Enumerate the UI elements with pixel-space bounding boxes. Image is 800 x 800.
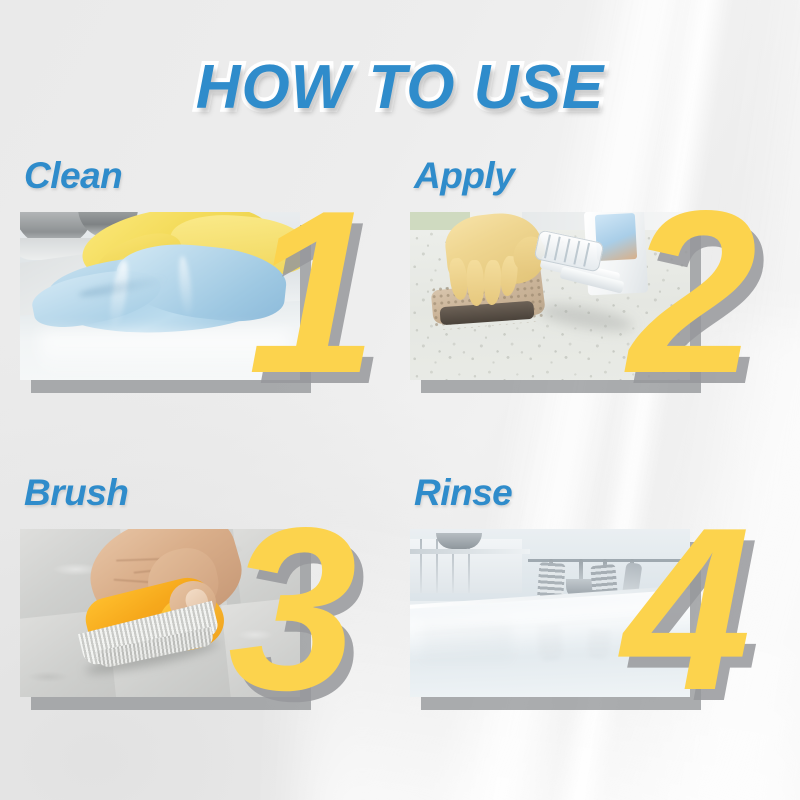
- step-number-4: 4: [622, 494, 751, 726]
- step-card-3: Brush: [0, 472, 390, 792]
- step-number-2: 2: [628, 177, 757, 409]
- page-title: HOW TO USE: [0, 52, 800, 123]
- step-number-1: 1: [248, 177, 377, 409]
- step-label-2: Apply: [414, 155, 514, 197]
- step-label-4: Rinse: [414, 472, 512, 514]
- step-card-2: Apply: [390, 155, 780, 475]
- step-label-3: Brush: [24, 472, 128, 514]
- step-card-4: Rinse: [390, 472, 780, 792]
- shelf-edge: [410, 549, 530, 554]
- step-label-1: Clean: [24, 155, 122, 197]
- step-number-3: 3: [228, 494, 357, 726]
- infographic-root: HOW TO USE Clean: [0, 0, 800, 800]
- step-card-1: Clean 1: [0, 155, 390, 475]
